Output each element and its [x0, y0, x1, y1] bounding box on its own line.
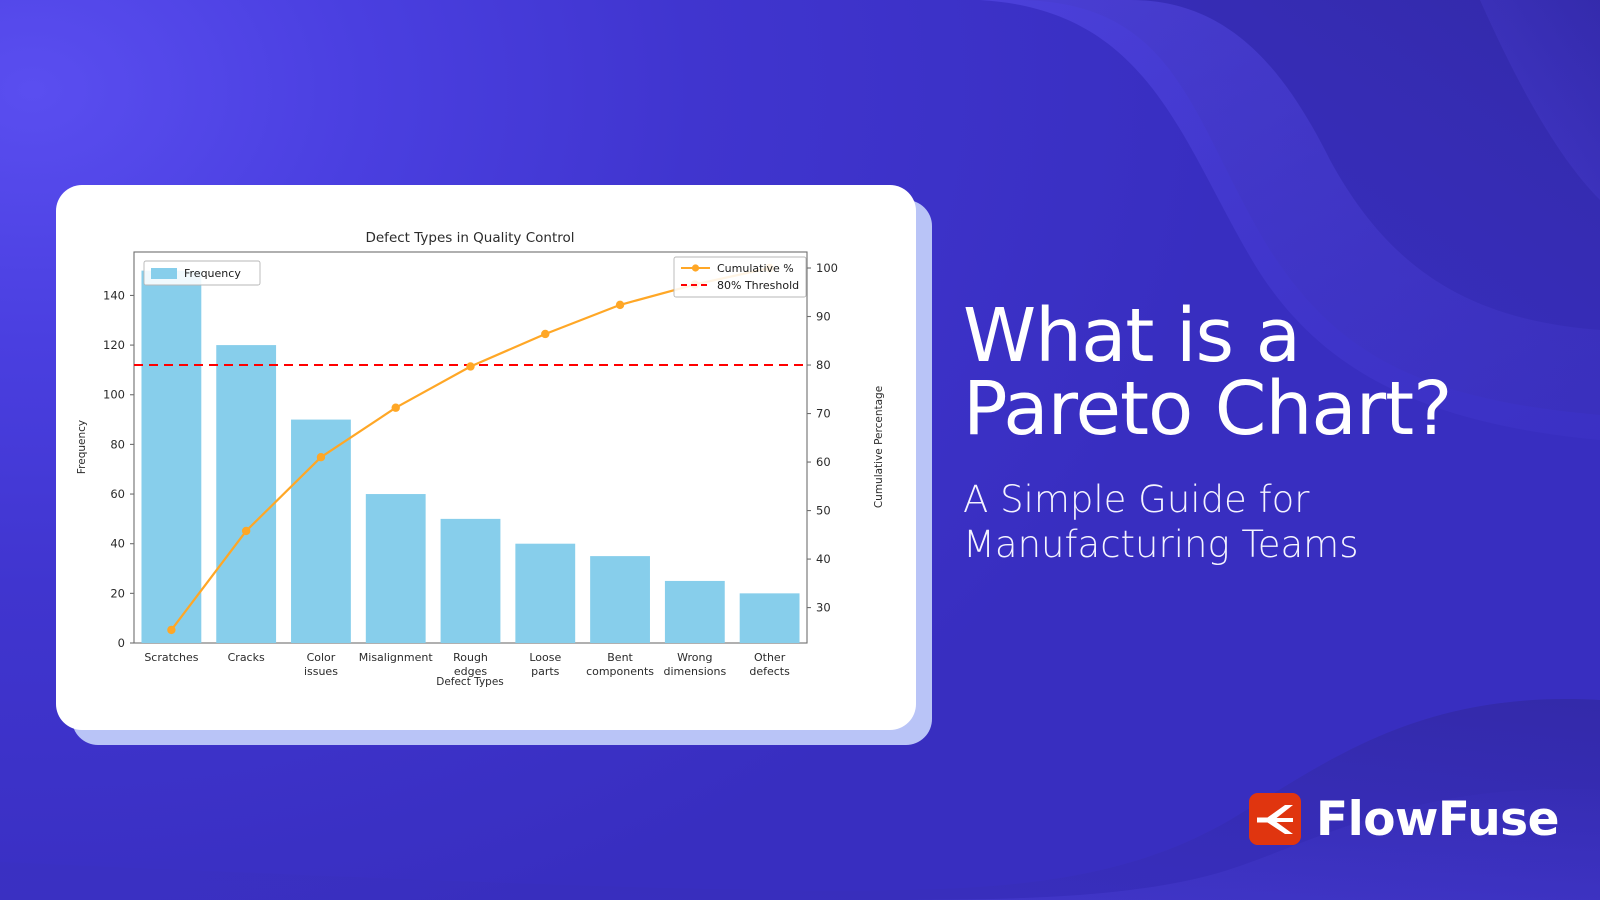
bar[interactable] — [665, 581, 725, 643]
x-category-line: Other — [754, 651, 786, 664]
y2-tick-label: 50 — [816, 504, 831, 518]
legend-frequency[interactable]: Frequency — [144, 261, 260, 285]
x-category-line: issues — [304, 665, 338, 678]
x-category-line: edges — [454, 665, 488, 678]
legend-swatch-frequency-icon — [151, 268, 177, 279]
x-category-line: parts — [531, 665, 560, 678]
y2-tick-label: 90 — [816, 310, 831, 324]
x-category-line: dimensions — [663, 665, 726, 678]
cumulative-point[interactable] — [466, 362, 474, 370]
legend-label-cumulative: Cumulative % — [717, 262, 794, 275]
cumulative-point[interactable] — [616, 301, 624, 309]
page-subtitle: A Simple Guide for Manufacturing Teams — [963, 477, 1563, 567]
x-category-label: Wrongdimensions — [663, 651, 726, 678]
x-category-label: Cracks — [228, 651, 265, 664]
chart-canvas: Defect Types in Quality Control Frequenc… — [56, 185, 916, 730]
cumulative-point[interactable] — [242, 527, 250, 535]
bar[interactable] — [366, 494, 426, 643]
y2-tick-label: 60 — [816, 455, 831, 469]
bar[interactable] — [740, 593, 800, 643]
legend-label-frequency: Frequency — [184, 267, 241, 280]
chart-card: Defect Types in Quality Control Frequenc… — [56, 185, 916, 730]
y2-tick-label: 100 — [816, 261, 838, 275]
x-category-label: Otherdefects — [749, 651, 790, 678]
cumulative-point[interactable] — [392, 404, 400, 412]
y-tick-label: 0 — [118, 636, 125, 650]
y-tick-label: 80 — [110, 437, 125, 451]
legend-label-threshold: 80% Threshold — [717, 279, 799, 292]
x-category-line: Color — [307, 651, 336, 664]
x-category-line: Wrong — [677, 651, 712, 664]
bar[interactable] — [141, 271, 201, 643]
bar[interactable] — [515, 544, 575, 643]
bar[interactable] — [590, 556, 650, 643]
x-category-label: Bentcomponents — [586, 651, 654, 678]
y-tick-label: 40 — [110, 537, 125, 551]
y2-axis-ticks: 30405060708090100 — [807, 261, 838, 615]
x-category-label: Scratches — [144, 651, 198, 664]
bar[interactable] — [216, 345, 276, 643]
x-category-line: Misalignment — [359, 651, 434, 664]
flowfuse-fork-mark-icon — [1249, 793, 1301, 845]
y2-tick-label: 70 — [816, 407, 831, 421]
x-category-label: Roughedges — [453, 651, 488, 678]
y-tick-label: 20 — [110, 586, 125, 600]
x-category-label: Colorissues — [304, 651, 338, 678]
y-tick-label: 60 — [110, 487, 125, 501]
y-axis-label: Frequency — [76, 420, 88, 474]
brand-name: FlowFuse — [1316, 796, 1559, 843]
brand-logo[interactable]: FlowFuse — [1249, 793, 1559, 845]
x-category-line: Cracks — [228, 651, 265, 664]
x-axis-categories: ScratchesCracksColorissuesMisalignmentRo… — [144, 651, 790, 678]
x-category-line: Rough — [453, 651, 488, 664]
y2-axis-label: Cumulative Percentage — [873, 386, 885, 508]
x-category-label: Misalignment — [359, 651, 434, 664]
x-category-label: Looseparts — [529, 651, 561, 678]
x-category-line: Bent — [607, 651, 633, 664]
legend-marker-cumulative-icon — [692, 264, 699, 271]
hero-copy: What is a Pareto Chart? A Simple Guide f… — [963, 300, 1563, 567]
x-category-line: components — [586, 665, 654, 678]
y-tick-label: 100 — [103, 388, 125, 402]
x-category-line: Scratches — [144, 651, 198, 664]
y2-tick-label: 40 — [816, 552, 831, 566]
bar[interactable] — [441, 519, 501, 643]
legend-cumulative[interactable]: Cumulative % 80% Threshold — [674, 257, 806, 297]
y2-tick-label: 80 — [816, 358, 831, 372]
y-axis-ticks: 020406080100120140 — [103, 288, 134, 650]
x-category-line: defects — [749, 665, 790, 678]
cumulative-point[interactable] — [317, 453, 325, 461]
y-tick-label: 120 — [103, 338, 125, 352]
page-title: What is a Pareto Chart? — [963, 300, 1563, 447]
pareto-chart: Defect Types in Quality Control Frequenc… — [56, 185, 916, 730]
cumulative-point[interactable] — [167, 626, 175, 634]
cumulative-point[interactable] — [541, 330, 549, 338]
chart-title: Defect Types in Quality Control — [365, 230, 574, 246]
y-tick-label: 140 — [103, 288, 125, 302]
y2-tick-label: 30 — [816, 601, 831, 615]
x-category-line: Loose — [529, 651, 561, 664]
